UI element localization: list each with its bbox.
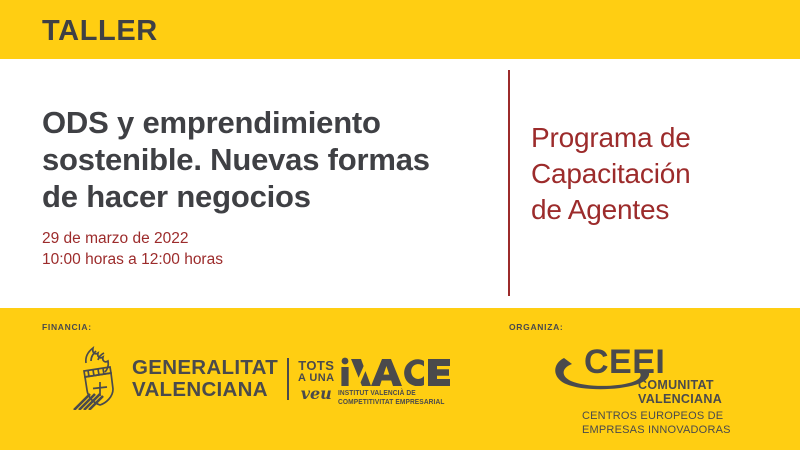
ceei-subtitle: CENTROS EUROPEOS DE EMPRESAS INNOVADORAS — [582, 410, 731, 437]
ivace-subtitle-line-1: INSTITUT VALENCIÀ DE — [338, 388, 448, 397]
program-block: Programa de Capacitación de Agentes — [531, 120, 781, 228]
ivace-logo: INSTITUT VALENCIÀ DE COMPETITIVITAT EMPR… — [338, 356, 458, 406]
ceei-top-row: CEEI COMUNITAT VALENCIANA — [552, 344, 752, 394]
event-date: 29 de marzo de 2022 — [42, 228, 482, 249]
title-line-3: de hacer negocios — [42, 178, 482, 215]
title-line-2: sostenible. Nuevas formas — [42, 141, 482, 178]
ceei-subtitle-line-1: CENTROS EUROPEOS DE — [582, 410, 731, 424]
page-title: ODS y emprendimiento sostenible. Nuevas … — [42, 104, 482, 215]
vertical-divider — [508, 70, 510, 296]
organiza-label: ORGANIZA: — [509, 322, 563, 332]
ceei-region-line-1: COMUNITAT — [638, 378, 722, 392]
ivace-subtitle: INSTITUT VALENCIÀ DE COMPETITIVITAT EMPR… — [338, 388, 448, 406]
program-line-1: Programa de — [531, 120, 781, 156]
generalitat-word-1: GENERALITAT — [132, 357, 278, 379]
title-line-1: ODS y emprendimiento — [42, 104, 482, 141]
ceei-region-line-2: VALENCIANA — [638, 392, 722, 406]
ceei-wordmark: CEEI — [584, 344, 665, 380]
banner-label: TALLER — [42, 16, 158, 46]
event-time: 10:00 horas a 12:00 horas — [42, 249, 482, 270]
generalitat-word-2: VALENCIANA — [132, 379, 278, 401]
ivace-wordmark-icon — [338, 356, 450, 386]
logo-separator — [287, 358, 289, 400]
footer-banner: FINANCIA: ORGANIZA: — [0, 308, 800, 450]
main-content: ODS y emprendimiento sostenible. Nuevas … — [0, 59, 800, 308]
financia-label: FINANCIA: — [42, 322, 92, 332]
program-line-2: Capacitación — [531, 156, 781, 192]
poster-canvas: TALLER ODS y emprendimiento sostenible. … — [0, 0, 800, 450]
generalitat-valenciana-logo: GENERALITAT VALENCIANA TOTS A UNA veu — [72, 342, 334, 410]
slogan-line-1: TOTS — [298, 359, 334, 372]
top-banner: TALLER — [0, 0, 800, 59]
program-line-3: de Agentes — [531, 192, 781, 228]
slogan-line-3: veu — [298, 385, 334, 402]
ceei-region: COMUNITAT VALENCIANA — [638, 378, 722, 406]
ceei-logo: CEEI COMUNITAT VALENCIANA CENTROS EUROPE… — [552, 344, 752, 394]
tots-a-una-veu-slogan: TOTS A UNA veu — [298, 359, 334, 402]
title-block: ODS y emprendimiento sostenible. Nuevas … — [42, 104, 482, 270]
ivace-subtitle-line-2: COMPETITIVITAT EMPRESARIAL — [338, 397, 448, 406]
ceei-subtitle-line-2: EMPRESAS INNOVADORAS — [582, 424, 731, 438]
generalitat-wordmark: GENERALITAT VALENCIANA — [132, 357, 278, 401]
generalitat-crest-icon — [72, 342, 124, 410]
